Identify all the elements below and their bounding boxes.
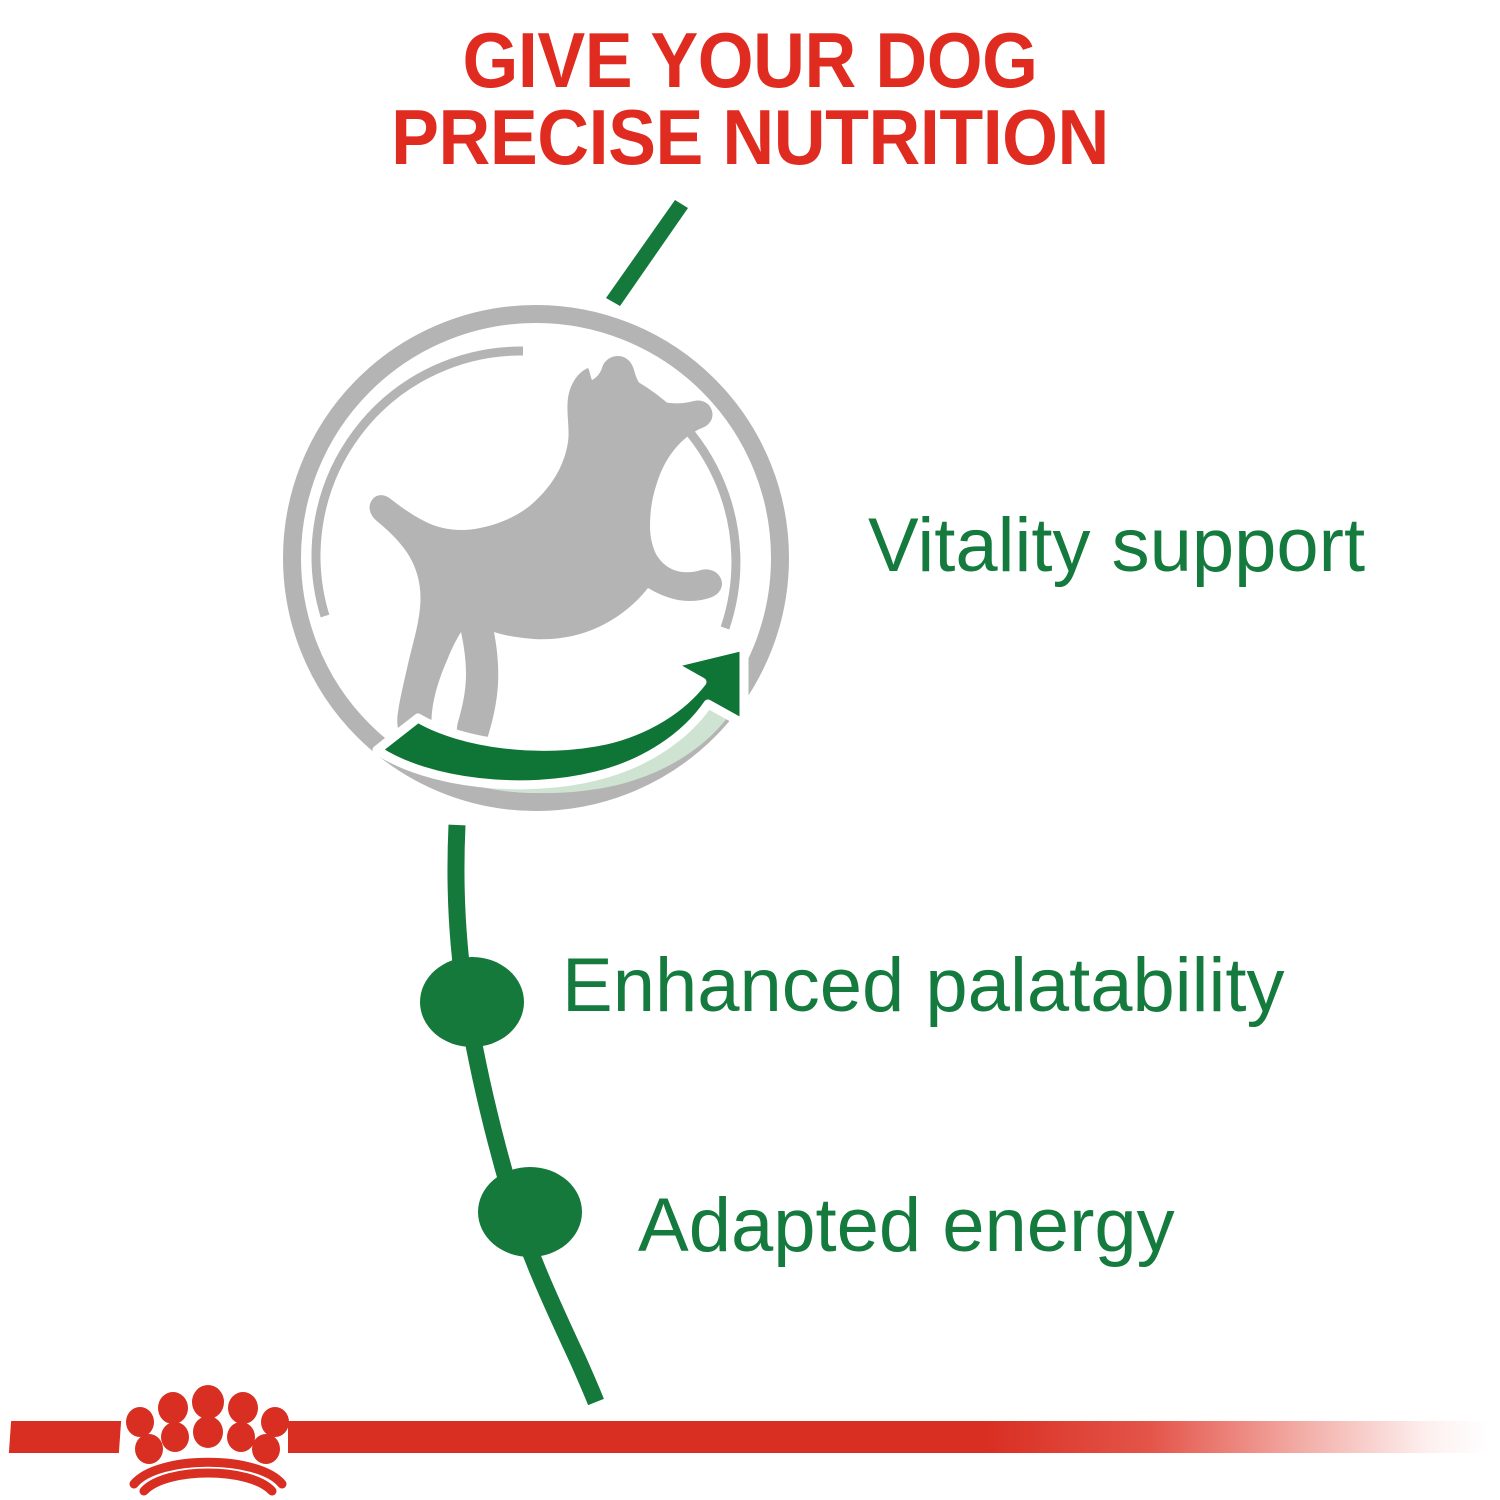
royal-canin-crown-icon xyxy=(118,1375,298,1495)
benefit-label-vitality-support: Vitality support xyxy=(868,508,1365,584)
connector-dot-2 xyxy=(478,1167,582,1257)
brand-bar-left-segment xyxy=(9,1421,121,1453)
promo-canvas: GIVE YOUR DOG PRECISE NUTRITION xyxy=(0,0,1500,1500)
connector-dot-1 xyxy=(420,957,524,1047)
brand-footer xyxy=(0,1400,1500,1500)
headline-line-1: GIVE YOUR DOG xyxy=(60,22,1440,99)
connector-path xyxy=(456,825,596,1402)
dog-silhouette xyxy=(370,356,722,748)
benefit-label-enhanced-palatability: Enhanced palatability xyxy=(562,948,1285,1024)
connector-line xyxy=(400,800,680,1430)
vitality-support-icon xyxy=(278,298,794,818)
page-title: GIVE YOUR DOG PRECISE NUTRITION xyxy=(60,22,1440,176)
benefit-label-adapted-energy: Adapted energy xyxy=(638,1188,1175,1264)
headline-line-2: PRECISE NUTRITION xyxy=(60,99,1440,176)
brand-bar-right-segment xyxy=(288,1421,1488,1453)
